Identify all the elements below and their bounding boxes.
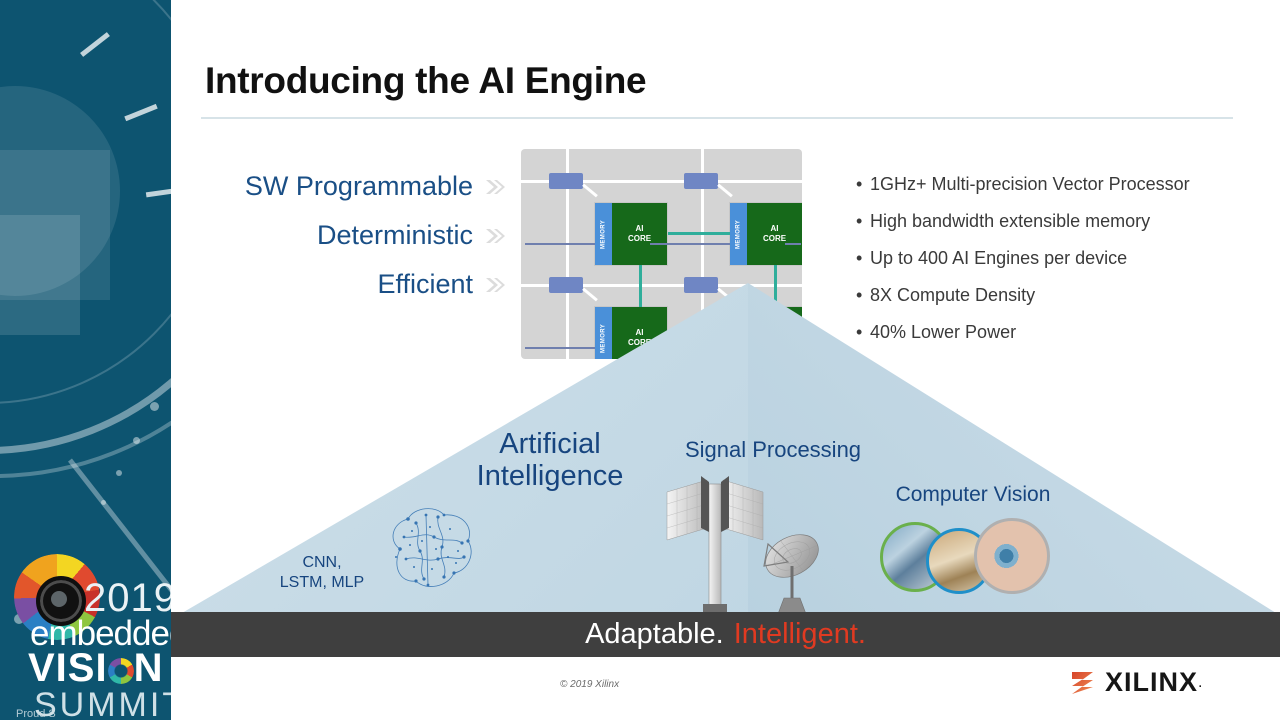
bullet-text: 1GHz+ Multi-precision Vector Processor (870, 174, 1190, 194)
feature-item-sw-programmable: SW Programmable (196, 162, 506, 211)
chevron-right-icon (484, 225, 506, 247)
tagline-bar: Adaptable. Intelligent. (171, 612, 1280, 657)
bullet-item: • 1GHz+ Multi-precision Vector Processor (856, 166, 1190, 203)
ai-core-line1: AI (771, 224, 779, 234)
ai-core-block: AI CORE (747, 203, 802, 265)
ai-engine-tile: MEMORY AI CORE (730, 203, 802, 265)
pyramid-label-signal-processing: Signal Processing (673, 438, 873, 463)
logo-proud-text: Proud S (16, 708, 56, 720)
title-divider (201, 117, 1233, 119)
ai-core-line2: CORE (763, 234, 786, 244)
logo-vision: VISIN (28, 646, 163, 691)
pyramid-label-computer-vision: Computer Vision (878, 483, 1068, 507)
vision-o-icon (108, 658, 134, 684)
memory-block-label: MEMORY (730, 203, 747, 265)
xilinx-logo: XILINX . (1069, 667, 1202, 698)
bubble-eye (974, 518, 1050, 594)
cascade-arrow (668, 232, 730, 235)
tagline-adaptable: Adaptable. (585, 618, 724, 651)
diagonal-link (582, 184, 598, 198)
computer-vision-image-bubbles (880, 518, 1075, 590)
satellite-dish-icon (748, 528, 826, 616)
diagonal-link (717, 184, 733, 198)
interconnect-switch (549, 173, 583, 189)
pyramid-sublabel-ai-models: CNN, LSTM, MLP (262, 553, 382, 593)
ai-models-line2: LSTM, MLP (262, 573, 382, 593)
page-title: Introducing the AI Engine (205, 60, 646, 102)
feature-label: SW Programmable (245, 171, 473, 202)
pyramid-label-ai: Artificial Intelligence (455, 428, 645, 493)
bullet-item: • High bandwidth extensible memory (856, 203, 1190, 240)
logo-vision-pre: VISI (28, 646, 108, 690)
copyright-text: © 2019 Xilinx (560, 679, 619, 690)
stream-arrow (785, 243, 801, 245)
xilinx-wordmark-dot: . (1198, 674, 1202, 692)
bullet-text: High bandwidth extensible memory (870, 211, 1150, 231)
pyramid-label-ai-line1: Artificial (455, 428, 645, 460)
neural-brain-icon (370, 497, 490, 602)
ai-core-line2: CORE (628, 234, 651, 244)
xilinx-mark-icon (1069, 670, 1096, 696)
feature-item-deterministic: Deterministic (196, 211, 506, 260)
tagline-intelligent: Intelligent. (734, 618, 866, 651)
ai-core-line1: AI (636, 224, 644, 234)
logo-vision-post: N (134, 646, 164, 690)
ai-models-line1: CNN, (262, 553, 382, 573)
bullet-item: • Up to 400 AI Engines per device (856, 240, 1190, 277)
ai-core-block: AI CORE (612, 203, 667, 265)
xilinx-wordmark: XILINX (1105, 667, 1198, 698)
memory-block-label: MEMORY (595, 203, 612, 265)
slide-root: 2019 embedded VISIN SUMMIT Proud S Intro… (0, 0, 1280, 720)
ai-engine-tile: MEMORY AI CORE (595, 203, 667, 265)
stream-arrow (525, 243, 595, 245)
chevron-right-icon (484, 176, 506, 198)
bullet-text: Up to 400 AI Engines per device (870, 248, 1127, 268)
tagline: Adaptable. Intelligent. (171, 612, 1280, 657)
feature-label: Deterministic (317, 220, 473, 251)
interconnect-switch (684, 173, 718, 189)
stream-arrow (650, 243, 730, 245)
pyramid-label-ai-line2: Intelligence (455, 460, 645, 492)
